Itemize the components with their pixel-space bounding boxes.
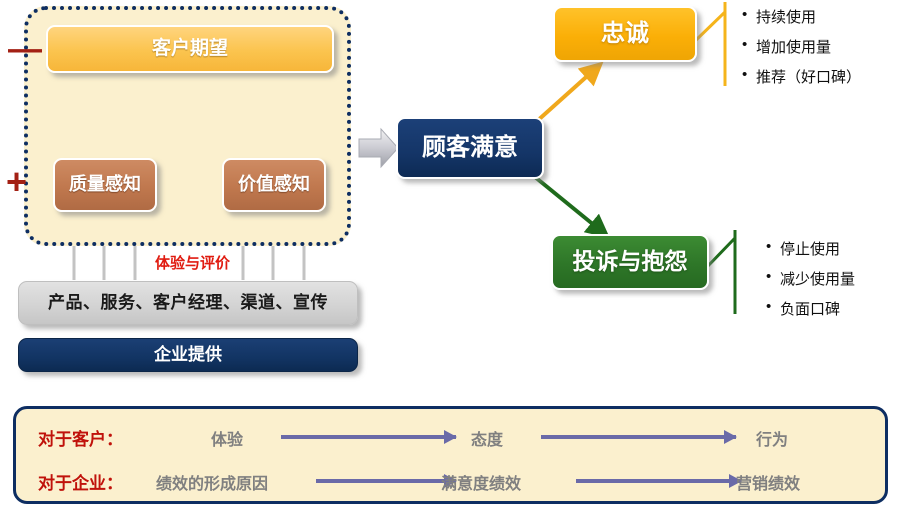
complaint-label: 投诉与抱怨: [573, 249, 688, 274]
summary-customer-stage-1: 态度: [471, 426, 503, 450]
model-to-satisfaction-block-arrow: [359, 129, 398, 167]
arrow-head-icon: [724, 430, 737, 444]
arrow-shaft: [316, 479, 456, 483]
loyalty-bullet-1: 增加使用量: [756, 36, 831, 57]
plus-sign: +: [6, 164, 27, 200]
summary-customer-arrow-0: [281, 433, 456, 441]
summary-customer-stage-2: 行为: [756, 426, 788, 450]
list-item: • 负面口碑: [766, 298, 855, 319]
complaint-bullet-list: • 停止使用 • 减少使用量 • 负面口碑: [766, 238, 855, 328]
summary-row-customer-label: 对于客户：: [38, 425, 123, 450]
bullet-dot-icon: •: [766, 268, 780, 285]
summary-panel: 对于客户： 体验 态度 行为 对于企业： 绩效的形成原因 满意度绩效: [13, 406, 888, 504]
diagram-canvas: — + 客户期望 质量感知 价值感知 体验与评价 产品、服务、客户经理、渠道、宣…: [0, 0, 905, 515]
value-perception-box[interactable]: 价值感知: [222, 158, 326, 212]
summary-customer-stage-0: 体验: [211, 426, 243, 450]
list-item: • 持续使用: [742, 6, 861, 27]
summary-enterprise-arrow-1: [576, 477, 741, 485]
bullet-dot-icon: •: [766, 298, 780, 315]
customer-satisfaction-box[interactable]: 顾客满意: [396, 117, 544, 179]
list-item: • 增加使用量: [742, 36, 861, 57]
complaint-bullet-1: 减少使用量: [780, 268, 855, 289]
quality-perception-box[interactable]: 质量感知: [53, 158, 157, 212]
list-item: • 推荐（好口碑）: [742, 66, 861, 87]
enterprise-provider-box[interactable]: 企业提供: [18, 338, 358, 372]
bullet-dot-icon: •: [766, 238, 780, 255]
loyalty-box[interactable]: 忠诚: [553, 6, 697, 62]
summary-row-customer: 对于客户： 体验 态度 行为: [16, 417, 885, 459]
satisfaction-to-loyalty-arrow: [536, 70, 594, 122]
satisfaction-to-complaint-arrow: [535, 177, 600, 230]
summary-row-enterprise-label: 对于企业：: [38, 469, 123, 494]
customer-satisfaction-label: 顾客满意: [422, 135, 518, 161]
loyalty-bullet-list: • 持续使用 • 增加使用量 • 推荐（好口碑）: [742, 6, 861, 96]
arrow-shaft: [576, 479, 741, 483]
minus-sign: —: [8, 32, 42, 66]
complaint-bullet-0: 停止使用: [780, 238, 840, 259]
quality-perception-label: 质量感知: [69, 175, 141, 195]
supply-offerings-label: 产品、服务、客户经理、渠道、宣传: [48, 294, 328, 313]
summary-row-enterprise: 对于企业： 绩效的形成原因 满意度绩效 营销绩效: [16, 461, 885, 503]
arrow-head-icon: [444, 430, 457, 444]
summary-enterprise-stage-2: 营销绩效: [736, 470, 800, 494]
expectation-box[interactable]: 客户期望: [46, 25, 334, 73]
summary-enterprise-arrow-0: [316, 477, 456, 485]
complaint-bracket: [706, 230, 735, 314]
bullet-dot-icon: •: [742, 6, 756, 23]
summary-enterprise-stage-1: 满意度绩效: [441, 470, 521, 494]
loyalty-bullet-0: 持续使用: [756, 6, 816, 27]
arrow-shaft: [281, 435, 456, 439]
arrow-shaft: [541, 435, 736, 439]
complaint-box[interactable]: 投诉与抱怨: [551, 234, 709, 290]
complaint-bullet-2: 负面口碑: [780, 298, 840, 319]
loyalty-bracket: [694, 2, 725, 86]
loyalty-bullet-2: 推荐（好口碑）: [756, 66, 861, 87]
bullet-dot-icon: •: [742, 36, 756, 53]
summary-enterprise-stage-0: 绩效的形成原因: [156, 470, 268, 494]
supply-offerings-box[interactable]: 产品、服务、客户经理、渠道、宣传: [18, 281, 358, 325]
expectation-label: 客户期望: [152, 39, 228, 60]
bullet-dot-icon: •: [742, 66, 756, 83]
value-perception-label: 价值感知: [238, 175, 310, 195]
summary-customer-arrow-1: [541, 433, 736, 441]
loyalty-label: 忠诚: [601, 21, 649, 47]
list-item: • 停止使用: [766, 238, 855, 259]
list-item: • 减少使用量: [766, 268, 855, 289]
enterprise-provider-label: 企业提供: [154, 346, 222, 365]
experience-evaluation-label: 体验与评价: [152, 252, 233, 273]
